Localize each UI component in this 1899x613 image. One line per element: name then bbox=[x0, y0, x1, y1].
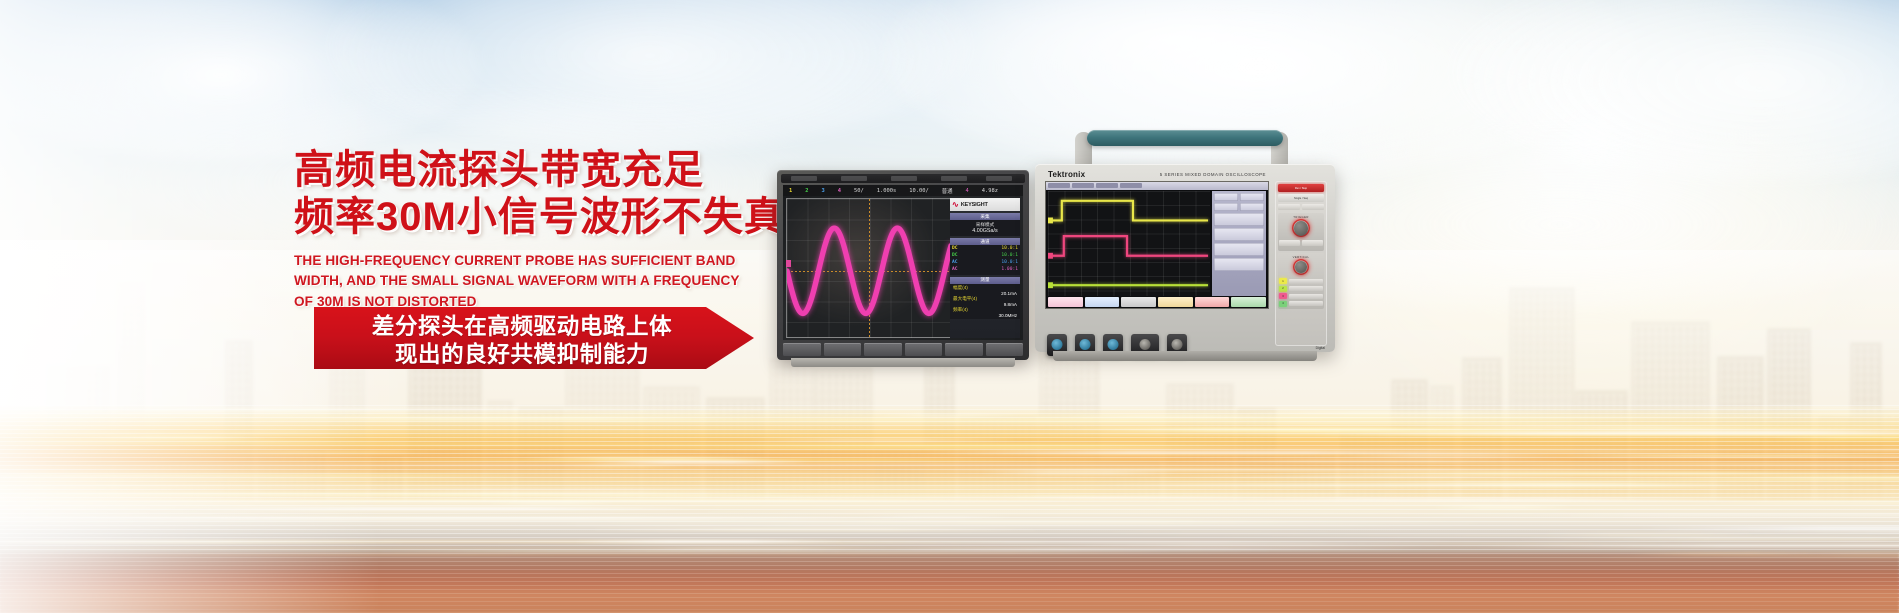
promo-banner: 高频电流探头带宽充足 频率30M小信号波形不失真 THE HIGH-FREQUE… bbox=[0, 0, 1899, 613]
tektronix-bottom-button[interactable] bbox=[1158, 297, 1193, 307]
keysight-ch2-indicator: 2 bbox=[805, 188, 808, 194]
tektronix-mini-row[interactable] bbox=[1278, 204, 1324, 210]
tektronix-menu-item[interactable] bbox=[1096, 183, 1118, 188]
vertical-position-knob[interactable] bbox=[1293, 259, 1309, 275]
light-streak bbox=[862, 422, 1755, 424]
trigger-level-knob-cap[interactable] bbox=[1294, 221, 1308, 236]
keysight-ch3-atten: 10.0:1 bbox=[1001, 260, 1018, 267]
keysight-top-vents bbox=[781, 174, 1025, 183]
light-streak bbox=[1247, 412, 1556, 414]
tektronix-side-badge-row[interactable] bbox=[1214, 203, 1264, 211]
keysight-ch4-atten: 1.00:1 bbox=[1001, 267, 1018, 274]
light-streak bbox=[998, 497, 1278, 499]
keysight-softkey-row[interactable] bbox=[783, 343, 1023, 356]
tektronix-model-label: 5 SERIES MIXED DOMAIN OSCILLOSCOPE bbox=[1160, 172, 1266, 177]
keysight-ch2-atten: 10.0:1 bbox=[1001, 253, 1018, 260]
channel-label-2 bbox=[1289, 286, 1323, 291]
light-streak bbox=[0, 540, 406, 544]
keysight-meas-2-label: 最大电平(4) bbox=[953, 296, 977, 301]
keysight-softkey[interactable] bbox=[864, 343, 902, 356]
headline-block: 高频电流探头带宽充足 频率30M小信号波形不失真 THE HIGH-FREQUE… bbox=[294, 148, 764, 313]
light-streak bbox=[589, 528, 1041, 531]
tektronix-utility-button[interactable] bbox=[1278, 204, 1300, 210]
keysight-ch1-indicator: 1 bbox=[789, 188, 792, 194]
trigger-level-knob[interactable] bbox=[1292, 219, 1310, 237]
light-streak bbox=[188, 507, 704, 510]
keysight-softkey[interactable] bbox=[783, 343, 821, 356]
light-streak bbox=[437, 471, 909, 474]
tektronix-bottom-button[interactable] bbox=[1231, 297, 1266, 307]
light-streak bbox=[1185, 476, 1580, 478]
keysight-meas-header: 测量 bbox=[950, 277, 1020, 284]
keysight-softkey[interactable] bbox=[905, 343, 943, 356]
light-streak bbox=[1039, 483, 1882, 487]
light-streak bbox=[1518, 537, 1899, 540]
run-stop-button[interactable]: Run / Stop bbox=[1278, 184, 1324, 192]
keysight-volts-div: 50/ bbox=[854, 188, 864, 194]
light-streak bbox=[1773, 436, 1899, 440]
light-streak bbox=[1618, 412, 1899, 415]
light-streak bbox=[982, 470, 1177, 474]
subcopy-block: THE HIGH-FREQUENCY CURRENT PROBE HAS SUF… bbox=[294, 251, 764, 313]
ground-band bbox=[0, 553, 1899, 613]
keysight-oscilloscope: 1 2 3 4 50/ 1.000s 10.00/ 普通 4 4.98z bbox=[777, 170, 1029, 360]
keysight-channel-rows: DC10.0:1 DC10.0:1 AC10.0:1 AC1.00:1 bbox=[950, 245, 1020, 275]
vertical-section: VERTICAL 1 2 3 bbox=[1278, 253, 1324, 309]
trigger-mode-button[interactable] bbox=[1302, 240, 1323, 246]
light-streak bbox=[1512, 464, 1899, 466]
light-streak bbox=[878, 414, 1020, 417]
keysight-sine-trace bbox=[787, 199, 951, 337]
light-streak bbox=[749, 438, 1018, 442]
tektronix-side-button[interactable] bbox=[1240, 203, 1264, 211]
headline-line-2: 频率30M小信号波形不失真 bbox=[294, 195, 764, 240]
light-streak bbox=[1514, 543, 1899, 544]
channel-label-4 bbox=[1289, 301, 1323, 306]
light-streak bbox=[1400, 425, 1786, 429]
light-streak bbox=[925, 451, 1511, 454]
keysight-trigger-source: 4 bbox=[966, 188, 969, 194]
tektronix-acq-row[interactable]: Run / Stop bbox=[1278, 184, 1324, 192]
keysight-timebase: 1.000s bbox=[877, 188, 896, 194]
keysight-ch1-coupling: DC bbox=[952, 246, 958, 253]
light-streak bbox=[1643, 407, 1899, 409]
tektronix-top-menu[interactable] bbox=[1046, 182, 1268, 190]
keysight-acq-body: 采样模式 4.00GSa/s bbox=[950, 220, 1020, 236]
subcopy-line-1: THE HIGH-FREQUENCY CURRENT PROBE HAS SUF… bbox=[294, 251, 764, 272]
keysight-softkey[interactable] bbox=[824, 343, 862, 356]
single-seq-button[interactable]: Single / Seq bbox=[1278, 194, 1324, 202]
light-streak bbox=[642, 505, 1142, 507]
light-streak bbox=[577, 411, 794, 414]
keysight-meas-3-label: 频率(4) bbox=[953, 307, 968, 312]
keysight-meas-1-label: 幅度(4) bbox=[953, 285, 968, 290]
keysight-chan-header: 通道 bbox=[950, 238, 1020, 245]
tektronix-menu-item[interactable] bbox=[1120, 183, 1142, 188]
channel-button-4[interactable]: 4 bbox=[1279, 301, 1287, 307]
light-streak bbox=[1432, 505, 1574, 509]
tektronix-bottom-button[interactable] bbox=[1085, 297, 1120, 307]
keysight-ch4-coupling: AC bbox=[952, 267, 958, 274]
tektronix-side-button[interactable] bbox=[1214, 203, 1238, 211]
channel-row-1[interactable]: 1 bbox=[1279, 278, 1323, 284]
keysight-trigger-mode: 普通 bbox=[942, 187, 953, 195]
light-streak bbox=[1273, 472, 1899, 475]
tektronix-trace-ch1 bbox=[1050, 201, 1208, 221]
trigger-section-label: TRIGGER bbox=[1279, 215, 1323, 219]
light-streak bbox=[1342, 453, 1556, 457]
tektronix-side-button[interactable] bbox=[1214, 228, 1264, 241]
light-streak bbox=[553, 490, 1391, 492]
vertical-section-label: VERTICAL bbox=[1279, 255, 1323, 259]
keysight-softkey[interactable] bbox=[945, 343, 983, 356]
tektronix-side-menu[interactable] bbox=[1212, 191, 1266, 296]
tektronix-bottom-menu[interactable] bbox=[1048, 297, 1266, 307]
keysight-measurements: 幅度(4)20.1mA 最大电平(4)9.8mA 频率(4)30.0MHz bbox=[950, 284, 1020, 319]
tektronix-screen bbox=[1045, 181, 1269, 309]
arrow-ribbon: 差分探头在高频驱动电路上体 现出的良好共模抑制能力 bbox=[314, 307, 754, 369]
tektronix-menu-item[interactable] bbox=[1072, 183, 1094, 188]
keysight-ch3-coupling: AC bbox=[952, 260, 958, 267]
keysight-status-bar: 1 2 3 4 50/ 1.000s 10.00/ 普通 4 4.98z bbox=[783, 185, 1023, 196]
tektronix-seq-row[interactable]: Single / Seq bbox=[1278, 194, 1324, 202]
light-streak bbox=[1172, 459, 1571, 463]
channel-button-3[interactable]: 3 bbox=[1279, 293, 1287, 299]
handle-grip[interactable] bbox=[1087, 130, 1283, 146]
keysight-ch3-indicator: 3 bbox=[822, 188, 825, 194]
tektronix-waveform-grid bbox=[1048, 191, 1210, 296]
light-streak bbox=[852, 548, 1425, 550]
light-streak bbox=[547, 521, 1498, 525]
light-streak bbox=[1313, 431, 1899, 435]
light-streak bbox=[1639, 526, 1899, 530]
tektronix-traces bbox=[1048, 191, 1210, 296]
keysight-sample-rate-top: 10.00/ bbox=[909, 188, 928, 194]
light-streak bbox=[563, 464, 685, 467]
tektronix-brand-bar: Tektronix 5 SERIES MIXED DOMAIN OSCILLOS… bbox=[1043, 167, 1271, 181]
ribbon-line-1: 差分探头在高频驱动电路上体 bbox=[336, 313, 708, 341]
tektronix-utility-button[interactable] bbox=[1302, 204, 1324, 210]
keysight-ch2-coupling: DC bbox=[952, 253, 958, 260]
tektronix-ch3-marker bbox=[1048, 282, 1053, 288]
keysight-wave-icon: ∿ bbox=[952, 201, 959, 209]
light-streak bbox=[0, 474, 536, 476]
trigger-force-button[interactable] bbox=[1279, 240, 1300, 246]
keysight-brand-name: KEYSIGHT bbox=[961, 202, 988, 208]
light-streak bbox=[1064, 415, 1280, 419]
keysight-acq-header: 采集 bbox=[950, 213, 1020, 220]
keysight-acq-rate: 4.00GSa/s bbox=[953, 228, 1017, 234]
light-streak bbox=[230, 458, 1222, 462]
tektronix-bottom-button[interactable] bbox=[1195, 297, 1230, 307]
light-streak bbox=[669, 510, 1604, 514]
light-streak bbox=[87, 436, 263, 439]
ribbon-line-2: 现出的良好共模抑制能力 bbox=[336, 341, 708, 369]
tektronix-ch1-marker bbox=[1048, 217, 1053, 223]
light-streak bbox=[0, 432, 403, 435]
headline-line-1: 高频电流探头带宽充足 bbox=[294, 148, 764, 193]
light-streak bbox=[0, 517, 933, 520]
trigger-button-row[interactable] bbox=[1279, 240, 1323, 246]
channel-button-2[interactable]: 2 bbox=[1279, 286, 1287, 292]
tektronix-stand bbox=[1053, 351, 1317, 361]
light-streak bbox=[0, 493, 819, 495]
tektronix-chassis: Tektronix 5 SERIES MIXED DOMAIN OSCILLOS… bbox=[1035, 164, 1335, 352]
tektronix-menu-item[interactable] bbox=[1048, 183, 1070, 188]
light-streak bbox=[0, 485, 650, 486]
keysight-ch4-indicator: 4 bbox=[838, 188, 841, 194]
vertical-position-knob-cap[interactable] bbox=[1295, 261, 1307, 273]
light-streak bbox=[136, 511, 658, 512]
light-streak bbox=[1475, 544, 1899, 548]
tektronix-bottom-button[interactable] bbox=[1121, 297, 1156, 307]
light-streak bbox=[1098, 532, 1345, 533]
tektronix-bottom-button[interactable] bbox=[1048, 297, 1083, 307]
tektronix-side-button[interactable] bbox=[1240, 193, 1264, 201]
keysight-screen: 1 2 3 4 50/ 1.000s 10.00/ 普通 4 4.98z bbox=[783, 185, 1023, 340]
keysight-trigger-level: 4.98z bbox=[982, 188, 998, 194]
tektronix-front-panel[interactable]: Run / Stop Single / Seq TRIGGER bbox=[1275, 181, 1327, 346]
keysight-softkey[interactable] bbox=[986, 343, 1024, 356]
keysight-ch1-atten: 10.0:1 bbox=[1001, 246, 1018, 253]
tektronix-side-button[interactable] bbox=[1214, 193, 1238, 201]
tektronix-oscilloscope: Tektronix 5 SERIES MIXED DOMAIN OSCILLOS… bbox=[1035, 128, 1335, 368]
channel-label-3 bbox=[1289, 294, 1323, 299]
tektronix-side-badge-row[interactable] bbox=[1214, 193, 1264, 201]
keysight-meas-3-value: 30.0MHz bbox=[953, 313, 1017, 318]
channel-label-1 bbox=[1289, 279, 1323, 284]
channel-button-1[interactable]: 1 bbox=[1279, 278, 1287, 284]
light-streak bbox=[218, 451, 445, 454]
tektronix-carry-handle[interactable] bbox=[1059, 128, 1311, 168]
channel-row-3[interactable]: 3 bbox=[1279, 293, 1323, 299]
tektronix-side-button[interactable] bbox=[1214, 243, 1264, 256]
keysight-waveform-plot bbox=[786, 198, 952, 338]
light-streak bbox=[1152, 535, 1899, 536]
light-streak bbox=[545, 526, 1483, 528]
light-streak bbox=[436, 452, 703, 454]
trigger-section: TRIGGER bbox=[1278, 213, 1324, 251]
subcopy-line-2: WIDTH, AND THE SMALL SIGNAL WAVEFORM WIT… bbox=[294, 271, 764, 292]
light-streak bbox=[1687, 502, 1899, 504]
channel-row-2[interactable]: 2 bbox=[1279, 286, 1323, 292]
ribbon-text-block: 差分探头在高频驱动电路上体 现出的良好共模抑制能力 bbox=[336, 313, 708, 369]
tektronix-digital-label: Digital bbox=[1316, 346, 1325, 350]
light-streak bbox=[1400, 514, 1899, 517]
light-streak bbox=[1543, 456, 1899, 457]
tektronix-ch2-marker bbox=[1048, 253, 1053, 259]
tektronix-side-button[interactable] bbox=[1214, 258, 1264, 271]
keysight-side-panel: ∿ KEYSIGHT 采集 采样模式 4.00GSa/s 通道 DC10.0:1… bbox=[950, 198, 1020, 338]
keysight-stand bbox=[791, 358, 1015, 367]
tektronix-side-button[interactable] bbox=[1214, 213, 1264, 226]
channel-row-4[interactable]: 4 bbox=[1279, 301, 1323, 307]
light-streak bbox=[0, 441, 444, 443]
tektronix-trace-ch2 bbox=[1050, 236, 1208, 256]
keysight-logo: ∿ KEYSIGHT bbox=[950, 198, 1020, 211]
light-streak bbox=[489, 542, 971, 544]
light-streak bbox=[677, 486, 1117, 487]
tektronix-brand-name: Tektronix bbox=[1048, 170, 1085, 179]
